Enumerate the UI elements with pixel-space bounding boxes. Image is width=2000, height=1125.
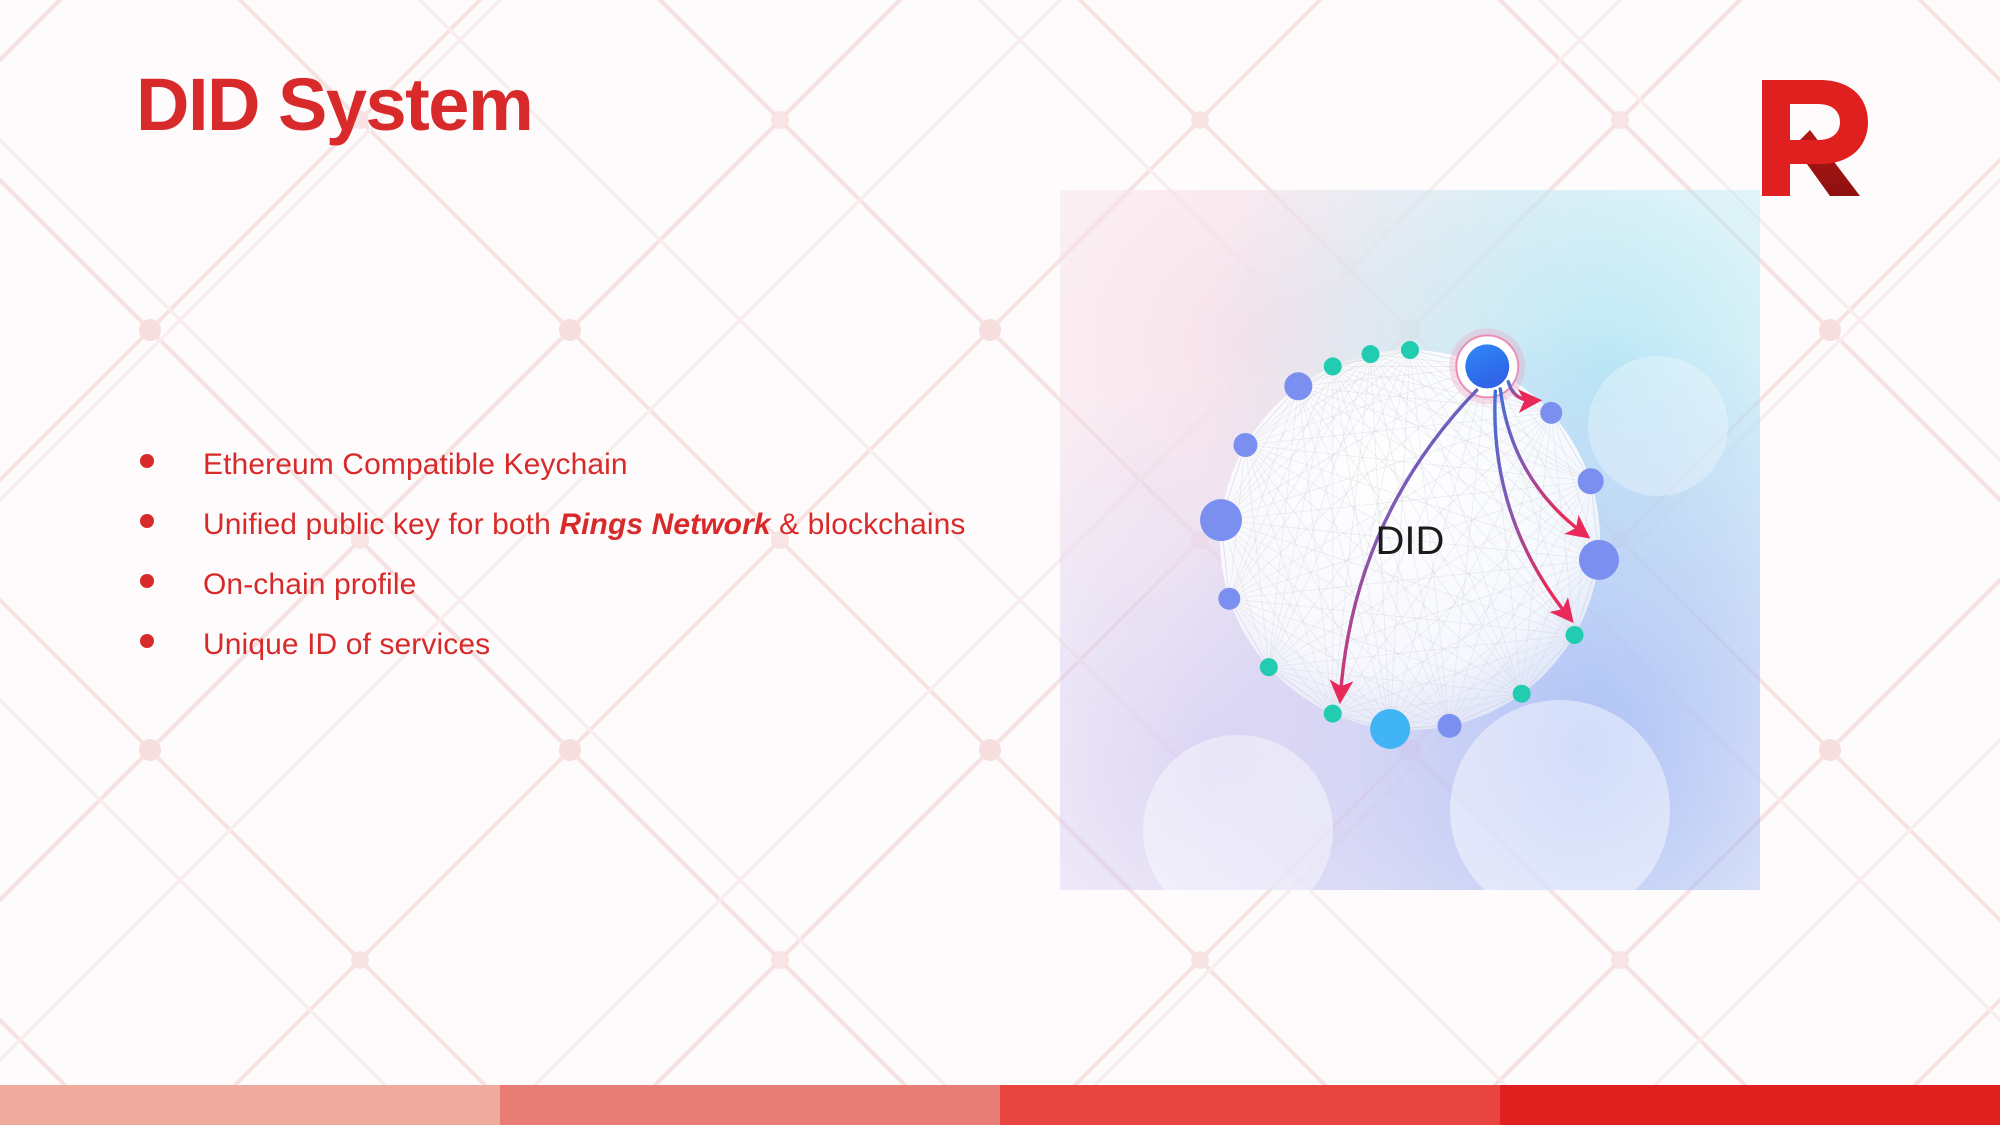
bullet-dot-icon <box>140 454 154 468</box>
center-label: DID <box>1376 519 1445 563</box>
network-node <box>1370 709 1410 749</box>
network-node <box>1233 433 1257 457</box>
bullet-label-3: On-chain profile <box>203 568 416 602</box>
network-node <box>1513 685 1531 703</box>
network-node <box>1200 499 1242 541</box>
network-node <box>1218 588 1240 610</box>
bottom-bar-segment-4 <box>1500 1085 2000 1125</box>
slide-root: DID System Ethereum Compatible Keychain … <box>0 0 2000 1125</box>
network-node <box>1540 402 1562 424</box>
bullet-label-2: Unified public key for both Rings Networ… <box>203 508 966 542</box>
bullet-list: Ethereum Compatible Keychain Unified pub… <box>140 448 1040 688</box>
bottom-color-bar <box>0 1085 2000 1125</box>
list-item: On-chain profile <box>140 568 1040 628</box>
bullet-2-text-after: & blockchains <box>771 508 966 541</box>
network-node <box>1579 540 1619 580</box>
network-node <box>1401 341 1419 359</box>
network-node <box>1260 658 1278 676</box>
bullet-label-4: Unique ID of services <box>203 628 490 662</box>
network-node <box>1324 357 1342 375</box>
network-node <box>1566 626 1584 644</box>
bullet-2-text-before: Unified public key for both <box>203 508 559 541</box>
bullet-label-1: Ethereum Compatible Keychain <box>203 448 628 482</box>
bullet-2-emphasis: Rings Network <box>559 508 770 541</box>
network-node <box>1284 372 1312 400</box>
bullet-dot-icon <box>140 514 154 528</box>
list-item: Unified public key for both Rings Networ… <box>140 508 1040 568</box>
bottom-bar-segment-3 <box>1000 1085 1500 1125</box>
list-item: Ethereum Compatible Keychain <box>140 448 1040 508</box>
bullet-dot-icon <box>140 574 154 588</box>
bullet-dot-icon <box>140 634 154 648</box>
network-node <box>1361 345 1379 363</box>
network-node <box>1324 705 1342 723</box>
list-item: Unique ID of services <box>140 628 1040 688</box>
bottom-bar-segment-1 <box>0 1085 500 1125</box>
did-network-graphic: DID <box>1060 190 1760 890</box>
highlight-node <box>1465 344 1509 388</box>
network-node <box>1578 468 1604 494</box>
rings-logo <box>1754 78 1882 196</box>
page-title: DID System <box>136 62 532 147</box>
network-node <box>1438 714 1462 738</box>
bottom-bar-segment-2 <box>500 1085 1000 1125</box>
